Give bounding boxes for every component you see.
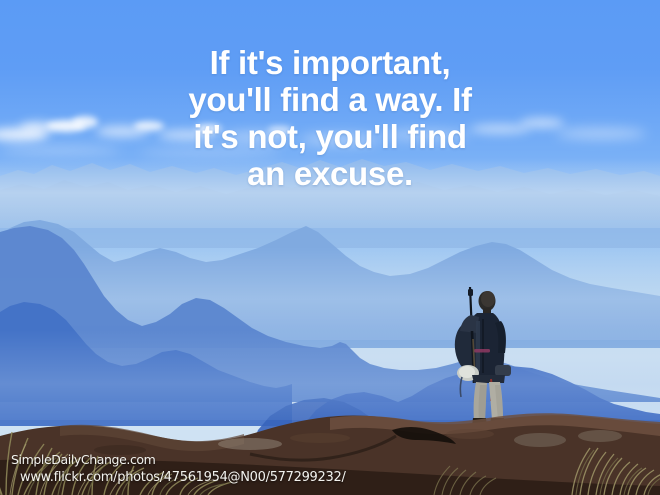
quote-line-2: you'll find a way. If	[0, 81, 660, 118]
attribution-site: SimpleDailyChange.com	[11, 451, 346, 468]
attribution-url: www.flickr.com/photos/47561954@N00/57729…	[20, 468, 346, 487]
quote-line-3: it's not, you'll find	[0, 118, 660, 155]
quote-line-4: an excuse.	[0, 155, 660, 192]
quote-text: If it's important, you'll find a way. If…	[0, 44, 660, 192]
hiker-figure	[443, 287, 533, 427]
quote-image: If it's important, you'll find a way. If…	[0, 0, 660, 495]
quote-line-1: If it's important,	[0, 44, 660, 81]
attribution: SimpleDailyChange.com www.flickr.com/pho…	[11, 451, 346, 487]
